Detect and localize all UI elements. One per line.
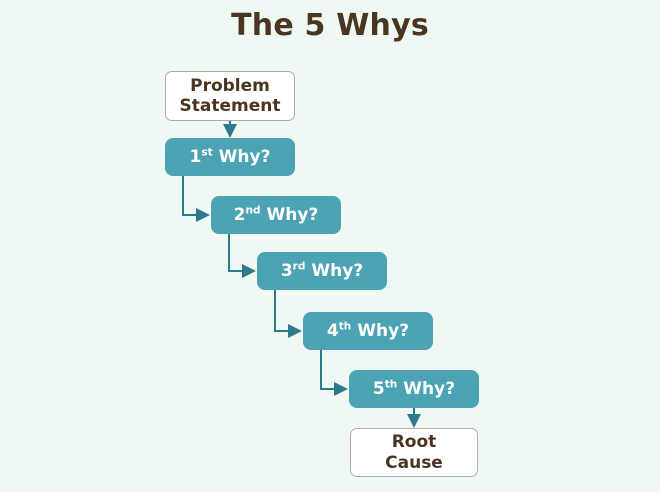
why-3-label: Why?: [311, 261, 363, 281]
connector-why-4-to-why-5: [321, 350, 346, 389]
problem-statement-line-2: Statement: [180, 96, 281, 116]
why-4-label: Why?: [357, 321, 409, 341]
problem-statement-line-1: Problem: [190, 76, 270, 96]
connector-why-3-to-why-4: [275, 290, 300, 331]
why-3-node[interactable]: 3rdWhy?: [257, 252, 387, 290]
connector-why-2-to-why-3: [229, 234, 254, 271]
why-2-label: Why?: [267, 205, 319, 225]
connector-why-1-to-why-2: [183, 176, 208, 215]
why-5-ordinal: 5th: [373, 379, 397, 399]
why-2-ordinal: 2nd: [234, 205, 261, 225]
why-1-node[interactable]: 1stWhy?: [165, 138, 295, 176]
connector-layer: [0, 0, 660, 492]
why-1-ordinal: 1st: [190, 147, 213, 167]
why-4-ordinal: 4th: [327, 321, 351, 341]
root-cause-line-1: Root: [392, 432, 437, 452]
why-3-ordinal-suffix: rd: [293, 260, 306, 272]
why-5-label: Why?: [403, 379, 455, 399]
why-2-ordinal-suffix: nd: [246, 204, 261, 216]
why-4-node[interactable]: 4thWhy?: [303, 312, 433, 350]
why-3-ordinal: 3rd: [281, 261, 306, 281]
why-2-node[interactable]: 2ndWhy?: [211, 196, 341, 234]
why-4-ordinal-suffix: th: [339, 320, 352, 332]
why-1-label: Why?: [219, 147, 271, 167]
why-1-ordinal-suffix: st: [201, 146, 212, 158]
diagram-canvas: The 5 Whys Problem Statement 1stWhy?2ndW…: [0, 0, 660, 492]
root-cause-line-2: Cause: [385, 453, 443, 473]
why-5-node[interactable]: 5thWhy?: [349, 370, 479, 408]
problem-statement-node[interactable]: Problem Statement: [165, 71, 295, 121]
root-cause-node[interactable]: Root Cause: [350, 428, 478, 477]
why-5-ordinal-suffix: th: [385, 378, 398, 390]
